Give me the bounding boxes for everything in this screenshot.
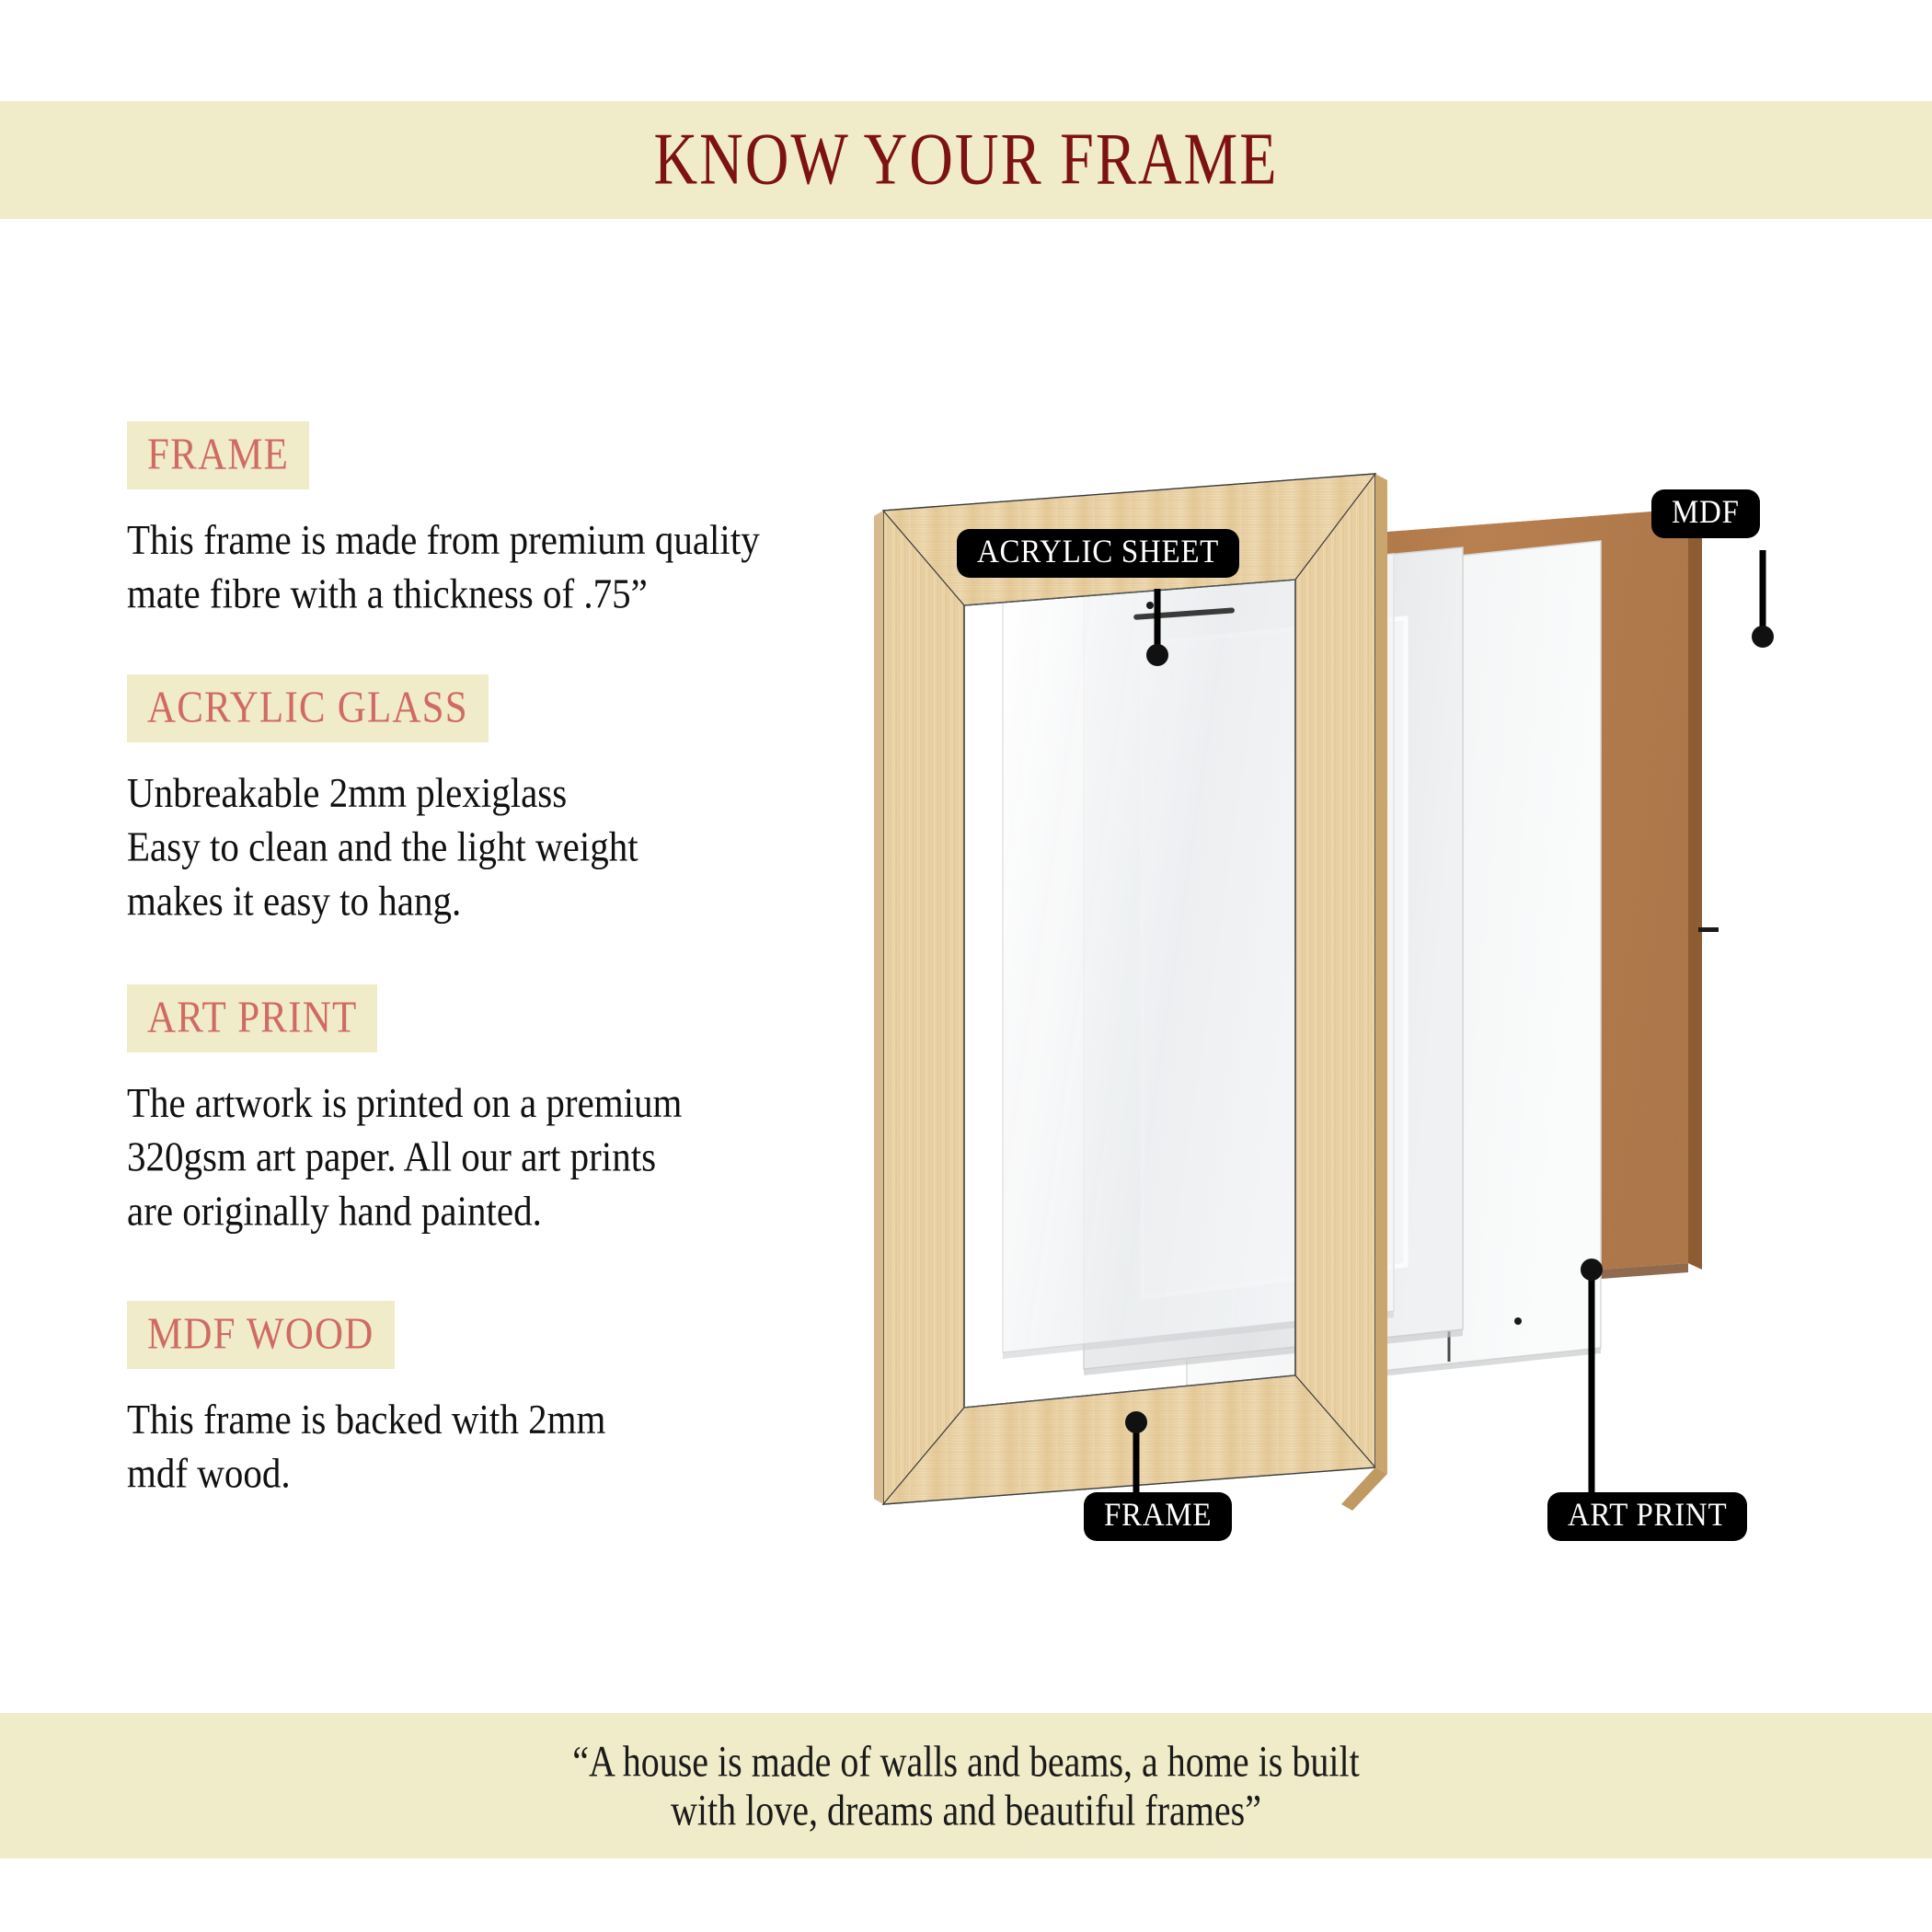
section-body-mdf-wood: This frame is backed with 2mm mdf wood.: [127, 1393, 900, 1501]
section-heading-acrylic-glass: ACRYLIC GLASS: [127, 674, 489, 742]
callout-frame-label: FRAME: [1104, 1499, 1212, 1532]
feature-section-art-print: ART PRINT The artwork is printed on a pr…: [127, 918, 900, 1224]
section-heading-frame: FRAME: [127, 421, 309, 489]
section-heading-art-print: ART PRINT: [127, 985, 377, 1053]
callout-frame: FRAME: [1084, 1492, 1232, 1541]
callout-acrylic-sheet-label: ACRYLIC SHEET: [977, 535, 1219, 569]
callout-art-print-label: ART PRINT: [1568, 1499, 1727, 1532]
header-banner: KNOW YOUR FRAME: [0, 101, 1932, 219]
feature-section-acrylic-glass: ACRYLIC GLASS Unbreakable 2mm plexiglass…: [127, 617, 900, 914]
callout-art-print: ART PRINT: [1547, 1492, 1747, 1541]
section-heading-mdf-wood: MDF WOOD: [127, 1301, 395, 1369]
section-body-frame: This frame is made from premium quality …: [127, 513, 900, 621]
feature-list: FRAME This frame is made from premium qu…: [127, 425, 900, 1497]
footer-banner: “A house is made of walls and beams, a h…: [0, 1713, 1932, 1858]
footer-quote-line-2: with love, dreams and beautiful frames”: [671, 1781, 1261, 1840]
section-body-art-print: The artwork is printed on a premium 320g…: [127, 1076, 900, 1238]
callout-mdf: MDF: [1651, 489, 1760, 538]
callout-acrylic-sheet: ACRYLIC SHEET: [957, 529, 1239, 578]
section-body-acrylic-glass: Unbreakable 2mm plexiglass Easy to clean…: [127, 766, 900, 928]
infographic-page: KNOW YOUR FRAME FRAME This frame is made…: [0, 0, 1932, 1932]
page-title: KNOW YOUR FRAME: [653, 118, 1278, 203]
feature-section-mdf-wood: MDF WOOD This frame is backed with 2mm m…: [127, 1229, 900, 1491]
feature-section-frame: FRAME This frame is made from premium qu…: [127, 425, 900, 612]
callout-mdf-label: MDF: [1672, 496, 1740, 529]
